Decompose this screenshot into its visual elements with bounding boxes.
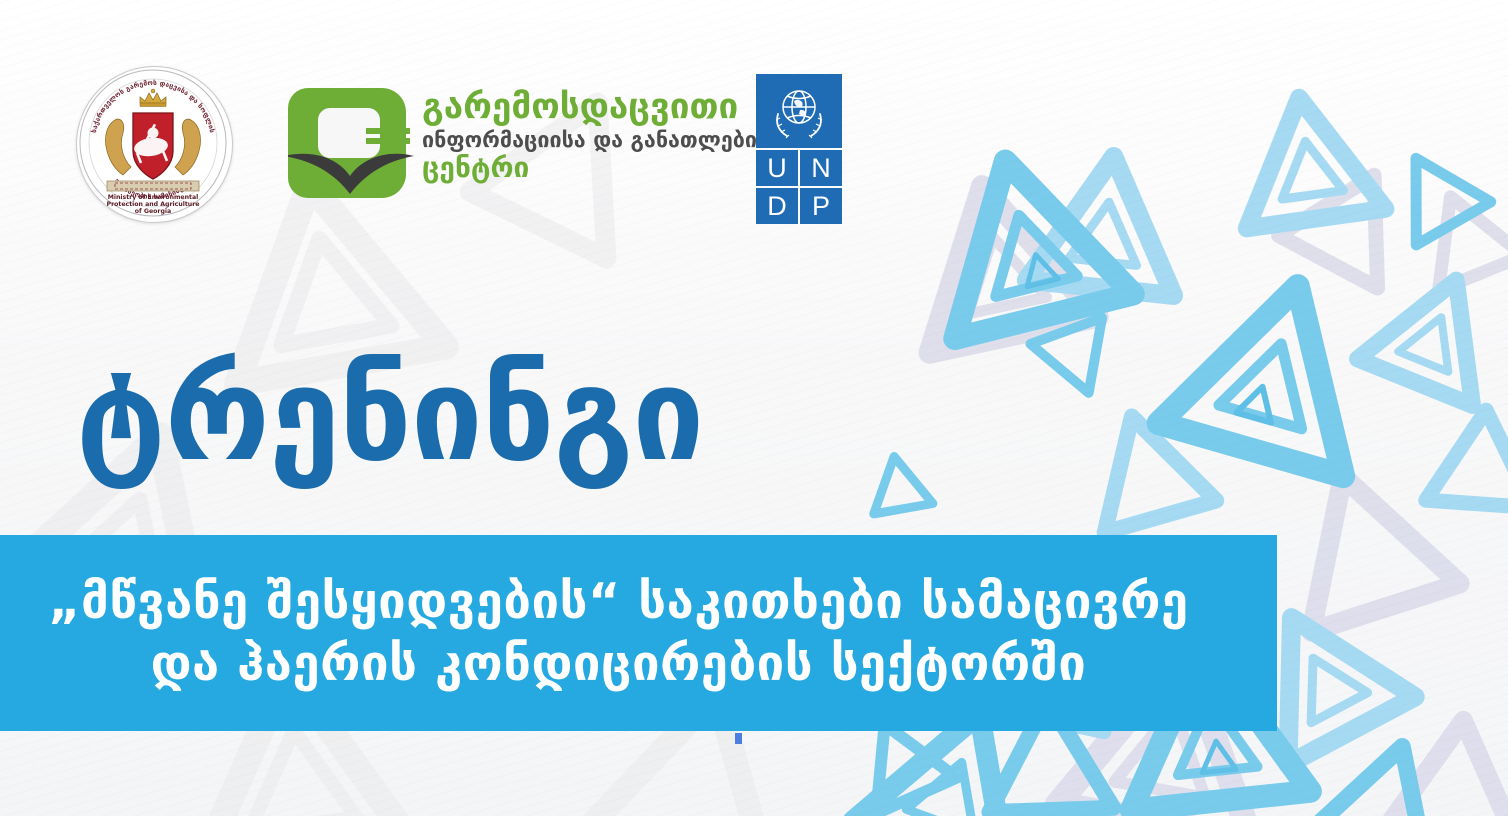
svg-text:of Georgia: of Georgia <box>135 208 171 215</box>
eic-line-2: ინფორმაციისა და განათლების <box>422 128 722 153</box>
undp-logo: U N D P <box>756 74 842 222</box>
undp-letter-d: D <box>756 188 798 224</box>
un-emblem-icon <box>756 74 842 148</box>
svg-text:Protection and Agriculture: Protection and Agriculture <box>107 201 200 208</box>
undp-letter-u: U <box>756 150 798 186</box>
subtitle-line-1: „მწვანე შესყიდვების“ საკითხები სამაცივრე <box>0 571 1237 633</box>
eic-line-1: გარემოსდაცვითი <box>422 90 722 126</box>
eic-line-3: ცენტრი <box>422 153 722 182</box>
undp-letter-p: P <box>800 188 842 224</box>
undp-letter-grid: U N D P <box>756 150 842 224</box>
ministry-seal-logo: საქართველოს გარემოს დაცვისა და სოფლის მე… <box>76 66 233 223</box>
undp-letter-n: N <box>800 150 842 186</box>
svg-text:Ministry of Environmental: Ministry of Environmental <box>108 194 199 201</box>
subtitle-line-2: და ჰაერის კონდიცირების სექტორში <box>0 633 1237 695</box>
poster-canvas: საქართველოს გარემოს დაცვისა და სოფლის მე… <box>0 0 1508 816</box>
logo-row: საქართველოს გარემოს დაცვისა და სოფლის მე… <box>0 0 1508 250</box>
eic-book-icon <box>288 84 414 202</box>
subtitle-banner: „მწვანე შესყიდვების“ საკითხები სამაცივრე… <box>0 535 1277 731</box>
eic-logo: გარემოსდაცვითი ინფორმაციისა და განათლები… <box>288 84 718 204</box>
text-caret <box>735 733 742 744</box>
eic-logo-text: გარემოსდაცვითი ინფორმაციისა და განათლები… <box>422 90 722 182</box>
page-title: ტრენინგი <box>76 352 703 480</box>
